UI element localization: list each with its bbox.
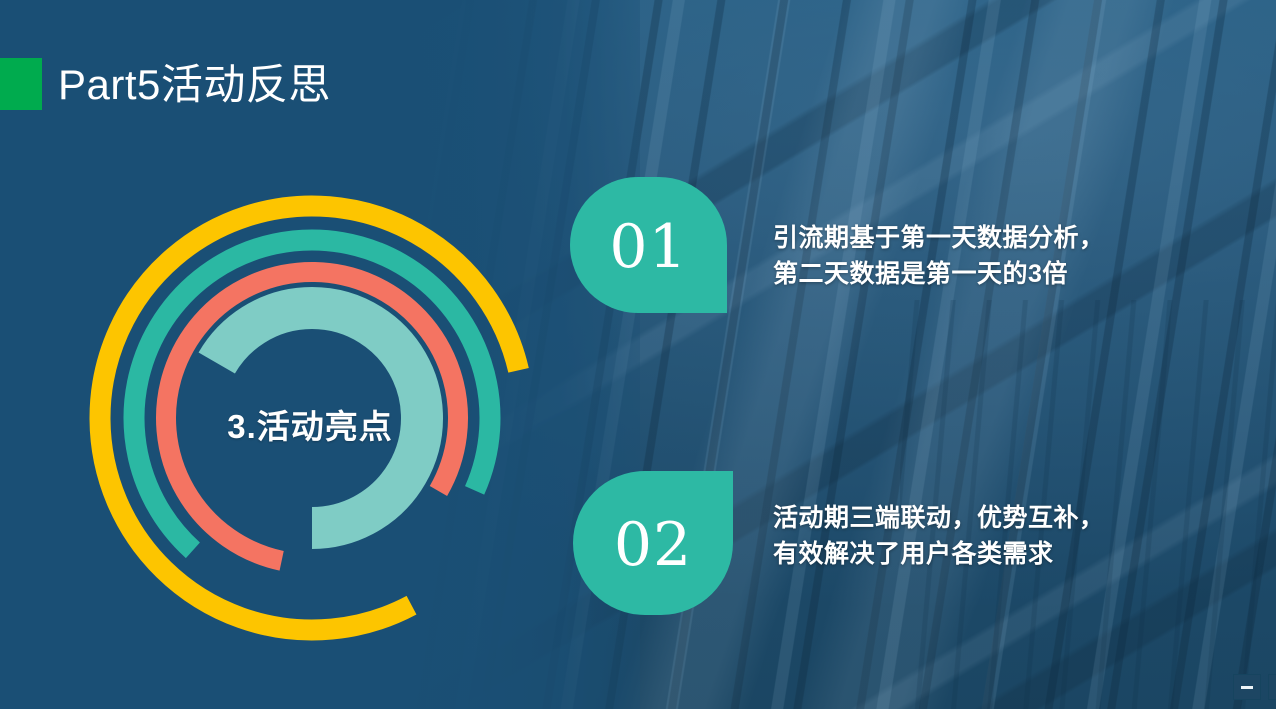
bullet-bubble-02[interactable]: 02	[573, 471, 733, 615]
minimize-button[interactable]	[1233, 674, 1261, 700]
bullet-text-01: 引流期基于第一天数据分析， 第二天数据是第一天的3倍	[773, 220, 1193, 292]
next-button[interactable]	[1268, 674, 1276, 700]
bullet-number-01: 01	[609, 217, 687, 277]
presentation-slide: Part5活动反思 3.活动亮点 01 引流期基于第一天数据分析， 第二天数据是…	[0, 0, 1276, 709]
bullet-number-02: 02	[614, 515, 692, 575]
ring-svg	[75, 180, 545, 655]
bullet-text-02: 活动期三端联动，优势互补， 有效解决了用户各类需求	[773, 500, 1193, 572]
page-title: Part5活动反思	[58, 54, 331, 116]
title-accent-square	[0, 58, 42, 110]
minus-icon	[1241, 686, 1253, 689]
concentric-ring-diagram: 3.活动亮点	[75, 180, 545, 655]
bullet-bubble-01[interactable]: 01	[570, 177, 727, 313]
inner-mint-arc	[217, 308, 422, 528]
